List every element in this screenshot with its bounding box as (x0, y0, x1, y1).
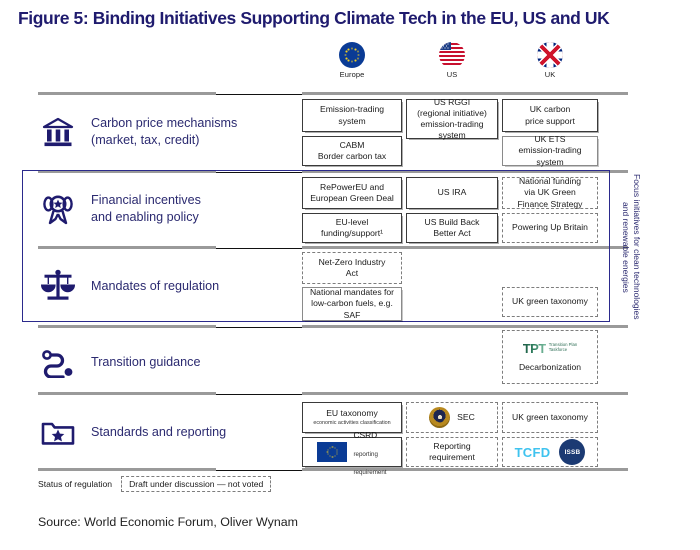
cell-us-build-back-better[interactable]: US Build Back Better Act (406, 213, 498, 243)
cell-uk-tcfd-issb[interactable]: TCFD ISSB (502, 437, 598, 467)
cell-us-rggi[interactable]: US RGGI (regional initiative) emission-t… (406, 99, 498, 139)
sec-label: SEC (457, 412, 475, 423)
row-label-line2: and enabling policy (91, 210, 199, 224)
row-label-line1: Standards and reporting (91, 425, 226, 439)
row-label-text: Financial incentives and enabling policy (91, 192, 201, 225)
cell-uk-green-taxonomy-mandates[interactable]: UK green taxonomy (502, 287, 598, 317)
cell-us-ira[interactable]: US IRA (406, 177, 498, 209)
cell-europe-low-carbon-fuel-mandates[interactable]: National mandates for low-carbon fuels, … (302, 287, 402, 321)
cell-europe-csrd[interactable]: CSRD reporting requirement (302, 437, 402, 467)
eu-flag-logo (317, 442, 347, 462)
tcfd-issb-logo: TCFD ISSB (515, 439, 586, 465)
legend: Status of regulation Draft under discuss… (38, 476, 271, 492)
cell-uk-ets[interactable]: UK ETS emission-trading system (502, 136, 598, 166)
row-label-line1: Carbon price mechanisms (91, 116, 237, 130)
row-separator-1 (38, 94, 628, 95)
row-separator-4 (38, 327, 628, 328)
bank-columns-icon (38, 112, 78, 152)
cell-uk-carbon-price-support[interactable]: UK carbon price support (502, 99, 598, 132)
csrd-text: CSRD reporting requirement (353, 425, 386, 479)
row-label-carbon-price: Carbon price mechanisms (market, tax, cr… (38, 104, 298, 160)
row-label-standards-reporting: Standards and reporting (38, 404, 298, 460)
legend-draft-box: Draft under discussion — not voted (121, 476, 271, 492)
row-label-line1: Financial incentives (91, 193, 201, 207)
folder-star-icon (38, 412, 78, 452)
row-label-line1: Mandates of regulation (91, 279, 219, 293)
cell-uk-green-taxonomy-standards[interactable]: UK green taxonomy (502, 402, 598, 433)
tpt-logo: TPT Transition Plan Taskforce (523, 341, 578, 356)
row-label-mandates: Mandates of regulation (38, 258, 298, 314)
award-rosette-icon (38, 189, 78, 229)
sec-seal-logo (429, 407, 450, 428)
cell-uk-powering-up-britain[interactable]: Powering Up Britain (502, 213, 598, 243)
cell-uk-green-finance-strategy[interactable]: National funding via UK Green Finance St… (502, 177, 598, 209)
cell-europe-eu-funding[interactable]: EU-level funding/support¹ (302, 213, 402, 243)
legend-label: Status of regulation (38, 479, 112, 489)
cell-europe-repowereu[interactable]: RePowerEU and European Green Deal (302, 177, 402, 209)
csrd-logo-row: CSRD reporting requirement (317, 425, 386, 479)
issb-logo: ISSB (559, 439, 585, 465)
row-label-line1: Transition guidance (91, 355, 200, 369)
tpt-logo-subtitle: Transition Plan Taskforce (549, 343, 578, 353)
route-path-icon (38, 342, 78, 382)
source-note: Source: World Economic Forum, Oliver Wyn… (38, 515, 298, 529)
cell-us-reporting-requirement[interactable]: Reporting requirement (406, 437, 498, 467)
row-label-financial-incentives: Financial incentives and enabling policy (38, 181, 298, 237)
row-label-text: Transition guidance (91, 354, 200, 371)
initiatives-matrix: Focus initiatives for clean technologies… (0, 0, 700, 550)
cell-europe-net-zero-industry-act[interactable]: Net-Zero Industry Act (302, 252, 402, 284)
row-label-transition-guidance: Transition guidance (38, 337, 298, 387)
focus-note-label: Focus initiatives for clean technologies… (620, 172, 642, 322)
row-label-text: Standards and reporting (91, 424, 226, 441)
decarbonization-label: Decarbonization (519, 362, 581, 373)
row-separator-5 (38, 394, 628, 395)
tcfd-logo: TCFD (515, 445, 551, 460)
cell-us-sec[interactable]: SEC (406, 402, 498, 433)
row-label-text: Mandates of regulation (91, 278, 219, 295)
scales-balance-icon (38, 266, 78, 306)
cell-europe-cabm[interactable]: CABM Border carbon tax (302, 136, 402, 166)
sec-logo-row: SEC (429, 407, 475, 428)
tpt-logo-mark: TPT (523, 341, 546, 356)
cell-europe-ets[interactable]: Emission-trading system (302, 99, 402, 132)
cell-uk-tpt-decarbonization[interactable]: TPT Transition Plan Taskforce Decarboniz… (502, 330, 598, 384)
row-label-text: Carbon price mechanisms (market, tax, cr… (91, 115, 237, 148)
row-label-line2: (market, tax, credit) (91, 133, 199, 147)
